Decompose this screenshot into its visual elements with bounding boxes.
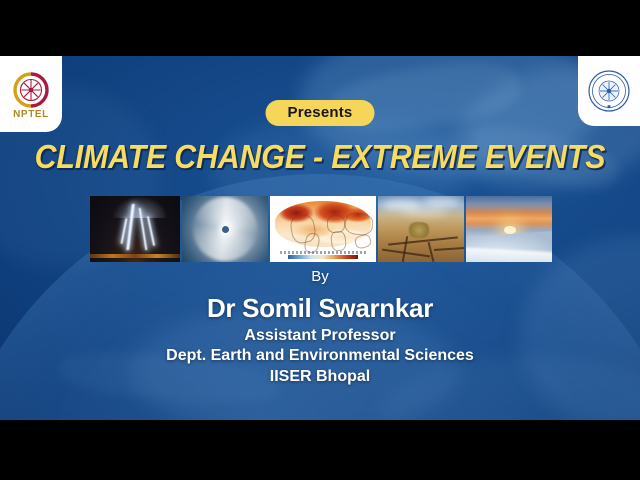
- presents-badge: Presents: [266, 100, 375, 126]
- nptel-wordmark: NPTEL: [13, 110, 49, 120]
- drought-cracked-earth-thumbnail: [378, 196, 464, 262]
- nptel-logo-card: NPTEL: [0, 56, 62, 132]
- speaker-institute: IISER Bhopal: [0, 367, 640, 388]
- image-strip: [90, 196, 550, 262]
- government-seal-icon: . . . . . . . . . . . . . . . . . .: [587, 69, 631, 113]
- letterbox-top: [0, 0, 640, 56]
- letterbox-bottom: [0, 420, 640, 480]
- institute-seal-card: . . . . . . . . . . . . . . . . . .: [578, 56, 640, 126]
- video-slide: NPTEL . . . . . . . . . . . . . . . . . …: [0, 0, 640, 480]
- nptel-atom-icon: [12, 71, 50, 109]
- speaker-block: By Dr Somil Swarnkar Assistant Professor…: [0, 268, 640, 388]
- svg-text:. . . . . . . . . .: . . . . . . . . . .: [601, 73, 617, 76]
- lightning-storm-thumbnail: [90, 196, 180, 262]
- slide-stage: NPTEL . . . . . . . . . . . . . . . . . …: [0, 56, 640, 420]
- sunset-over-ice-thumbnail: [466, 196, 552, 262]
- page-title: CLIMATE CHANGE - EXTREME EVENTS: [26, 138, 615, 176]
- hurricane-satellite-thumbnail: [182, 196, 268, 262]
- by-label: By: [0, 268, 640, 287]
- global-temperature-anomaly-map-thumbnail: [270, 196, 376, 262]
- speaker-role: Assistant Professor: [0, 326, 640, 347]
- speaker-name: Dr Somil Swarnkar: [0, 294, 640, 324]
- speaker-department: Dept. Earth and Environmental Sciences: [0, 346, 640, 367]
